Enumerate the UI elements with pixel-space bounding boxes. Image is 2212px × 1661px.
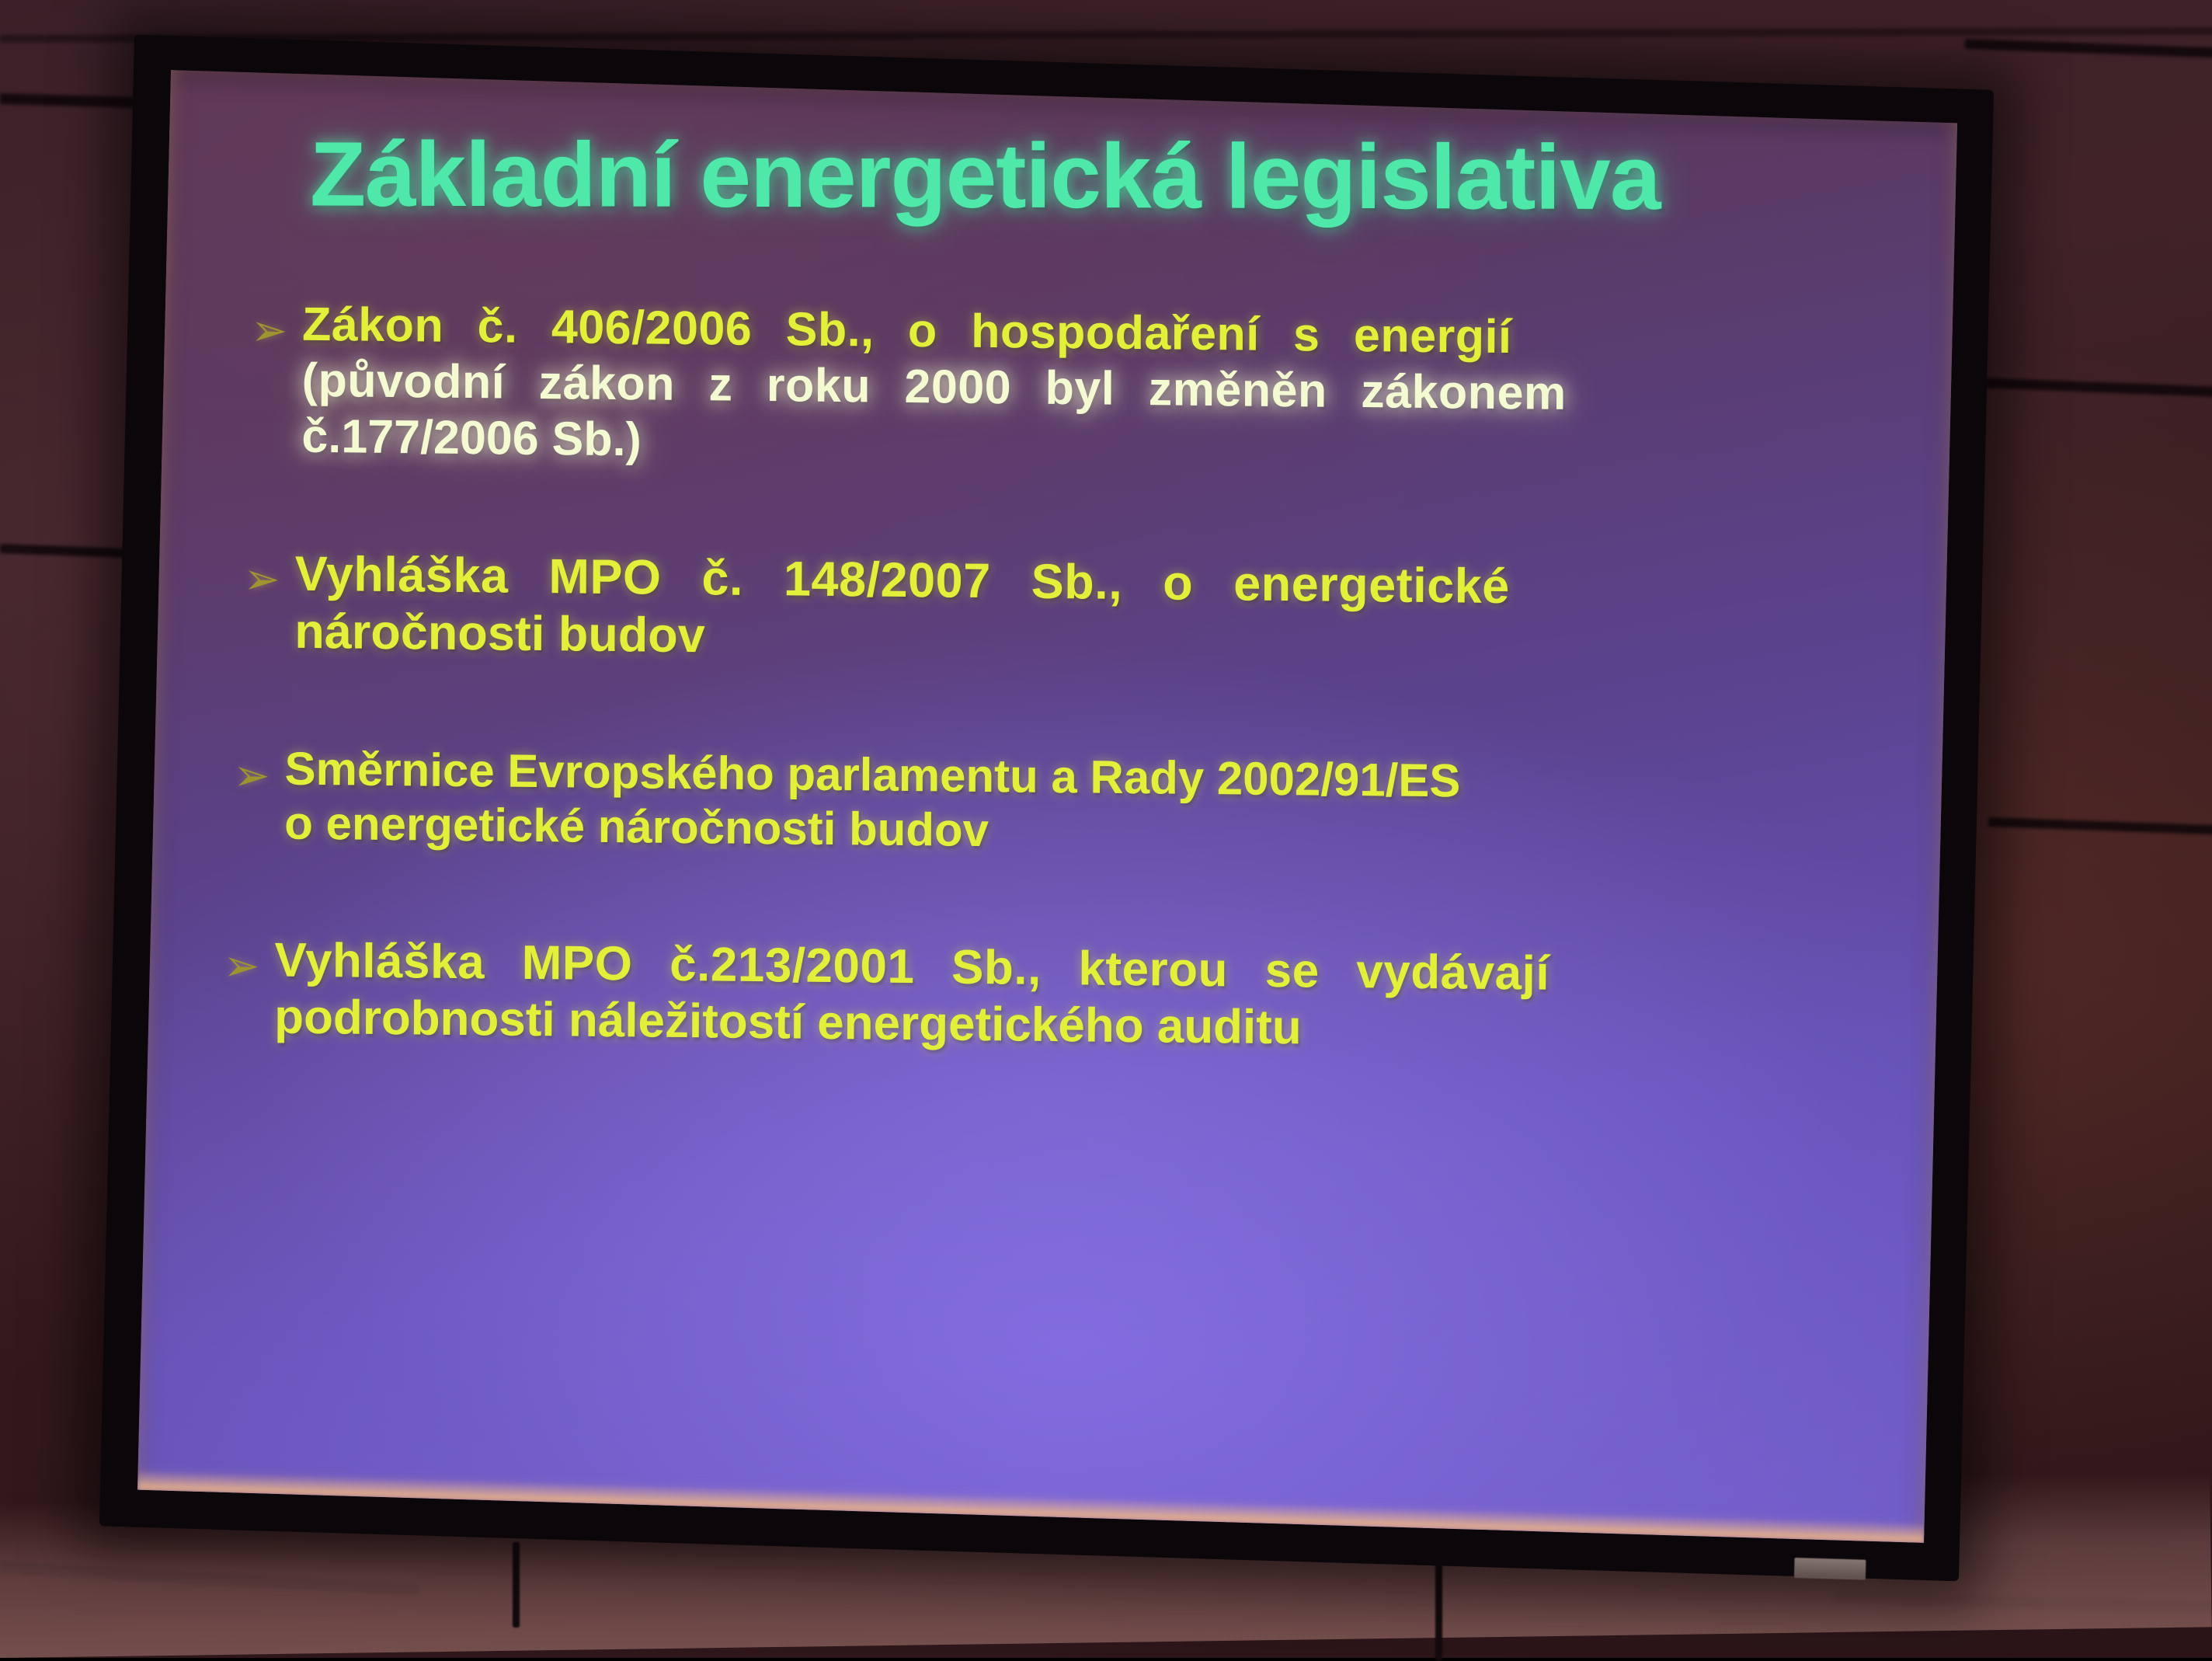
frame-label-sticker <box>1794 1558 1866 1580</box>
bullet-item-1: ➢ Zákon č. 406/2006 Sb., o hospodaření s… <box>250 296 1886 481</box>
slide-title: Základní energetická legislativa <box>310 127 1889 228</box>
projection-screen-frame: Základní energetická legislativa ➢ Zákon… <box>99 35 1994 1582</box>
arrowhead-bullet-icon: ➢ <box>251 308 302 353</box>
bullet-item-2: ➢ Vyhláška MPO č. 148/2007 Sb., o energe… <box>243 545 1884 677</box>
projection-screen-surface: Základní energetická legislativa ➢ Zákon… <box>137 70 1957 1543</box>
bullet-item-4: ➢ Vyhláška MPO č.213/2001 Sb., kterou se… <box>223 931 1883 1063</box>
bullet-item-4-text: Vyhláška MPO č.213/2001 Sb., kterou se v… <box>274 932 1875 1063</box>
wall-seam-right-upper <box>1965 39 2212 58</box>
slide-bullet-list: ➢ Zákon č. 406/2006 Sb., o hospodaření s… <box>237 296 1886 1063</box>
arrowhead-bullet-icon: ➢ <box>233 753 284 797</box>
screen-mount-rod-right <box>1435 1562 1442 1661</box>
bullet-item-3-text: Směrnice Evropského parlamentu a Rady 20… <box>284 741 1876 868</box>
wall-seam-right-lower <box>1988 817 2212 834</box>
bullet-item-3: ➢ Směrnice Evropského parlamentu a Rady … <box>233 740 1883 868</box>
wall-seam-right-middle <box>1957 377 2212 397</box>
arrowhead-bullet-icon: ➢ <box>223 944 274 988</box>
bullet-item-2-text: Vyhláška MPO č. 148/2007 Sb., o energeti… <box>294 545 1876 677</box>
screen-mount-rod-left <box>513 1542 520 1628</box>
presentation-slide: Základní energetická legislativa ➢ Zákon… <box>137 70 1957 1543</box>
bullet-item-1-text: Zákon č. 406/2006 Sb., o hospodaření s e… <box>301 297 1878 481</box>
arrowhead-bullet-icon: ➢ <box>244 557 295 601</box>
room-background: Základní energetická legislativa ➢ Zákon… <box>0 0 2212 1658</box>
